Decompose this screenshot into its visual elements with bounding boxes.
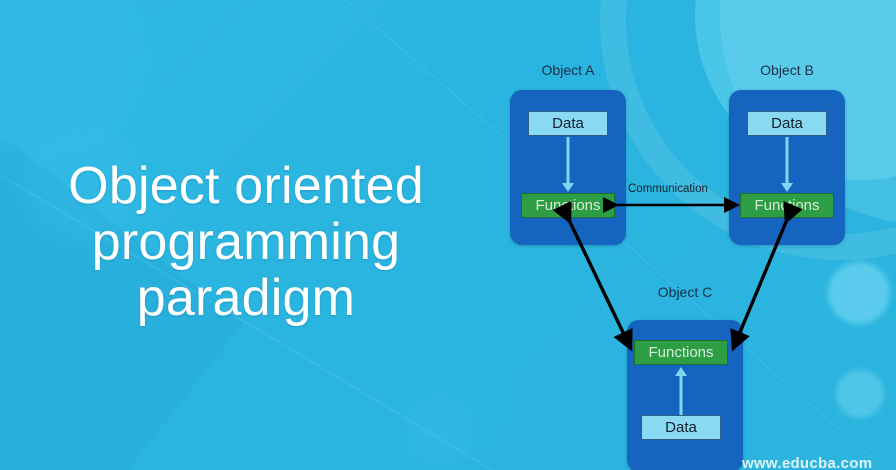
object-c-label: Object C [627, 284, 743, 300]
object-b-down-arrow-icon [747, 137, 827, 192]
object-b-label: Object B [729, 62, 845, 78]
object-c-up-arrow-icon [641, 367, 721, 421]
communication-label: Communication [628, 183, 708, 195]
oop-diagram: Object A Data Functions Object B Data Fu… [0, 0, 896, 470]
object-b-data-box[interactable]: Data [747, 111, 827, 136]
slide-canvas: Object oriented programming paradigm Obj… [0, 0, 896, 470]
watermark: www.educba.com [742, 455, 872, 470]
object-c-functions-box[interactable]: Functions [634, 340, 728, 365]
object-c-data-box[interactable]: Data [641, 415, 721, 440]
object-a-down-arrow-icon [528, 137, 608, 192]
object-a-label: Object A [510, 62, 626, 78]
object-b-functions-box[interactable]: Functions [740, 193, 834, 218]
object-a-functions-box[interactable]: Functions [521, 193, 615, 218]
object-a-data-box[interactable]: Data [528, 111, 608, 136]
